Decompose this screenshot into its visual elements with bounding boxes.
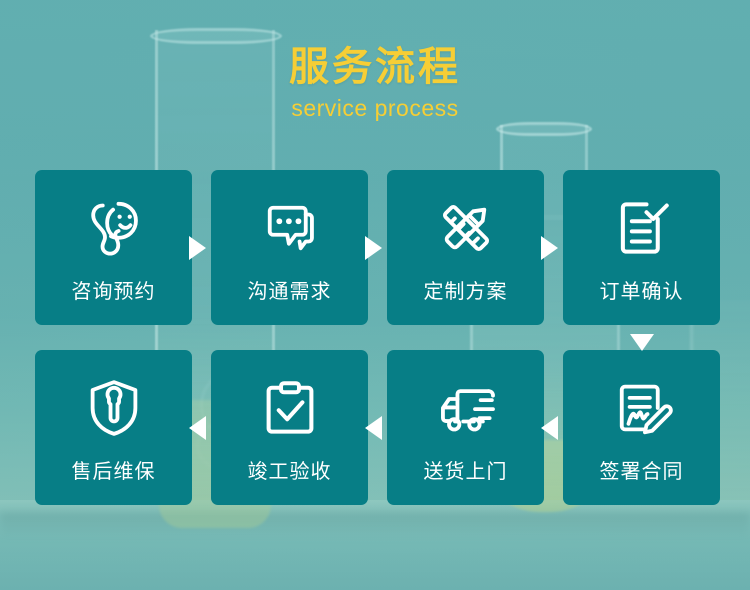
step-card-label: 送货上门 (424, 460, 508, 484)
step-card-order-confirm[interactable]: 订单确认 (563, 170, 720, 325)
arrow-left-icon-1 (189, 416, 206, 440)
arrow-left-icon-2 (365, 416, 382, 440)
step-card-delivery[interactable]: 送货上门 (387, 350, 544, 505)
delivery-truck-icon (426, 368, 506, 448)
arrow-down-icon (630, 334, 654, 351)
arrow-right-icon-3 (541, 236, 558, 260)
step-card-label: 咨询预约 (72, 280, 156, 304)
arrow-right-icon-2 (365, 236, 382, 260)
step-card-custom-plan[interactable]: 定制方案 (387, 170, 544, 325)
step-card-sign-contract[interactable]: 签署合同 (563, 350, 720, 505)
step-card-label: 售后维保 (72, 460, 156, 484)
process-steps-grid: 咨询预约 沟通需求 (0, 0, 750, 590)
clipboard-check-icon (250, 368, 330, 448)
step-card-label: 沟通需求 (248, 280, 332, 304)
step-card-label: 定制方案 (424, 280, 508, 304)
pencil-ruler-icon (426, 188, 506, 268)
contract-pen-icon (602, 368, 682, 448)
arrow-right-icon-1 (189, 236, 206, 260)
step-card-label: 竣工验收 (248, 460, 332, 484)
step-card-consultation[interactable]: 咨询预约 (35, 170, 192, 325)
shield-wrench-icon (74, 368, 154, 448)
arrow-left-icon-3 (541, 416, 558, 440)
step-card-label: 签署合同 (600, 460, 684, 484)
step-card-communication[interactable]: 沟通需求 (211, 170, 368, 325)
step-card-label: 订单确认 (600, 280, 684, 304)
chat-bubbles-icon (250, 188, 330, 268)
document-check-icon (602, 188, 682, 268)
step-card-acceptance[interactable]: 竣工验收 (211, 350, 368, 505)
phone-smile-icon (74, 188, 154, 268)
step-card-after-sales[interactable]: 售后维保 (35, 350, 192, 505)
